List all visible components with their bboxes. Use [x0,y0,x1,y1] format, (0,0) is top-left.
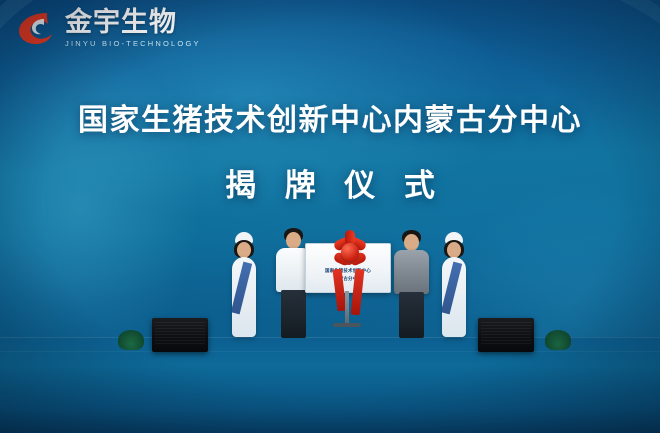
red-ribbon-flower-icon [333,235,367,269]
trousers [399,292,424,338]
plaque-stand [345,291,349,325]
flame-swirl-logo-icon [14,8,58,48]
logo-text-en: JINYU BIO-TECHNOLOGY [65,40,201,48]
stage-floor [0,337,660,433]
head [447,242,461,258]
logo-text: 金宇生物 JINYU BIO-TECHNOLOGY [65,9,201,48]
trousers [281,290,306,338]
hostess-left [224,232,264,338]
floor-plant-right [545,330,571,350]
suit-jacket [394,250,429,294]
backdrop-title-main: 国家生猪技术创新中心内蒙古分中心 [0,95,660,139]
floor-plant-left [118,330,144,350]
head [237,242,251,258]
hostess-right [434,232,474,338]
official-gray-suit [388,230,434,340]
logo-text-cn: 金宇生物 [65,9,201,36]
stage-speaker-left [152,318,208,352]
company-logo: 金宇生物 JINYU BIO-TECHNOLOGY [14,8,201,48]
plaque-foot [333,323,361,327]
ceremony-photo: 金宇生物 JINYU BIO-TECHNOLOGY 国家生猪技术创新中心内蒙古分… [0,0,660,433]
head [286,232,301,249]
stage-speaker-right [478,318,534,352]
backdrop-title-sub: 揭 牌 仪 式 [0,160,660,205]
head [404,234,419,251]
